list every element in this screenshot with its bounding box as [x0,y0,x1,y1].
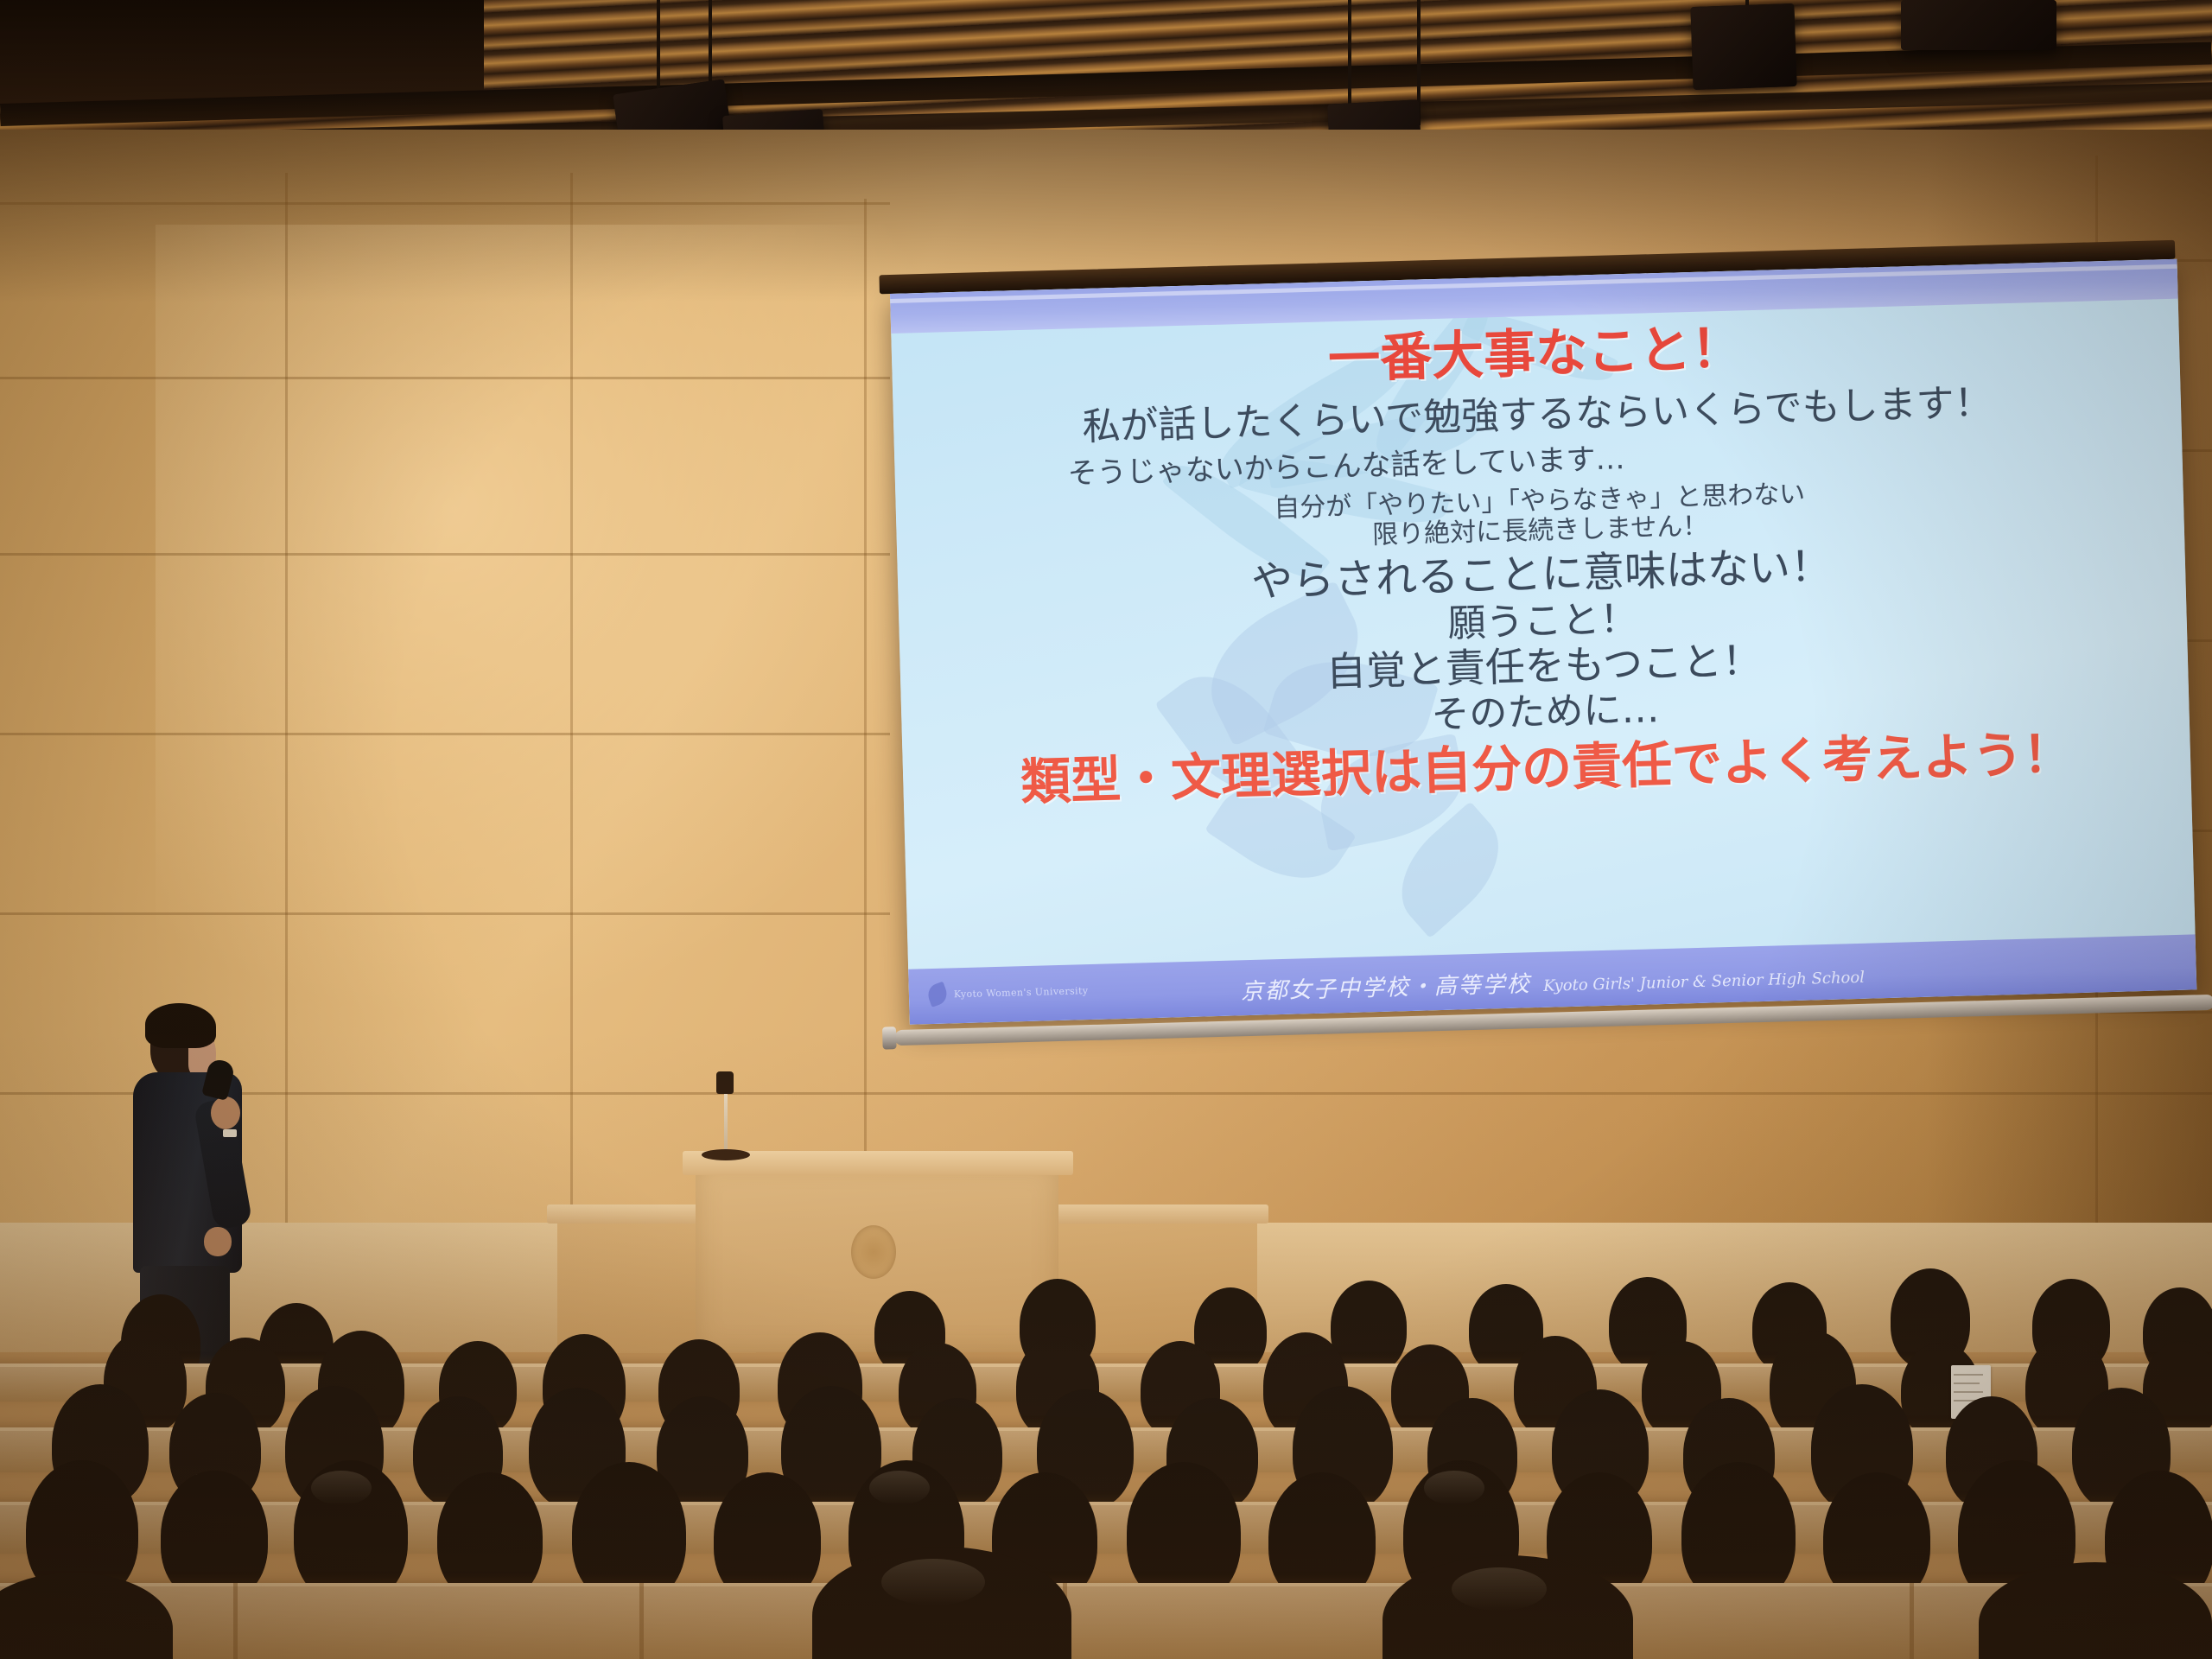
projection-screen: 一番大事なこと！ 私が話したくらいで勉強するならいくらでもします！ そうじゃない… [890,259,2198,1080]
hair-highlight [869,1471,930,1505]
slide-line-5: やらされることに意味はない！ [1250,544,1832,605]
audience-area [0,1201,2212,1659]
auditorium-scene: 一番大事なこと！ 私が話したくらいで勉強するならいくらでもします！ そうじゃない… [0,0,2212,1659]
school-name-en: Kyoto Girls' Junior & Senior High School [1543,969,1865,995]
seat-divider [639,1583,644,1659]
presenter-hair [145,1003,216,1048]
wall-panel-joint [864,199,867,1270]
wall-panel-seam [0,377,890,379]
slide-line-4: 限り絶対に長続きしません！ [1372,513,1709,550]
wall-panel-seam [0,1092,2212,1095]
slide-line-8: そのために… [1431,689,1660,736]
slide-line-6: 願うこと！ [1447,598,1638,644]
seat-row [0,1583,2212,1659]
presenter-wristwatch [223,1129,237,1137]
wall-panel-seam [0,733,890,735]
hair-highlight [881,1559,985,1605]
hair-highlight [1424,1471,1484,1505]
slide-surface: 一番大事なこと！ 私が話したくらいで勉強するならいくらでもします！ そうじゃない… [890,259,2196,1025]
projected-slide: 一番大事なこと！ 私が話したくらいで勉強するならいくらでもします！ そうじゃない… [890,259,2196,1025]
wall-panel-seam [0,553,890,556]
slide-line-1: 私が話したくらいで勉強するならいくらでもします！ [1082,382,1993,448]
slide-text-block: 一番大事なこと！ 私が話したくらいで勉強するならいくらでもします！ そうじゃない… [891,301,2195,969]
wall-panel-seam [0,202,890,205]
hair-highlight [1452,1567,1547,1611]
slide-final-line: 類型・文理選択は自分の責任でよく考えよう！ [1020,728,2073,810]
slide-title: 一番大事なこと！ [1327,321,1744,388]
wall-panel-joint [285,173,288,1270]
ceiling-shadow-left [0,0,484,104]
hair-highlight [311,1471,372,1505]
seat-divider [1910,1583,1914,1659]
stage-light-fixture [1901,0,2056,50]
school-name-jp: 京都女子中学校・高等学校 [1240,971,1531,1005]
slide-line-2: そうじゃないからこんな話をしています… [1067,443,1625,490]
slide-line-7: 自覚と責任をもつこと！ [1325,639,1762,694]
presenter-hand [211,1096,240,1129]
wall-panel-seam [0,912,890,915]
microphone-icon [716,1071,734,1094]
stage-light-fixture [1690,3,1796,90]
wall-panel-joint [570,173,573,1270]
seat-divider [233,1583,238,1659]
microphone-stand-base [702,1149,750,1160]
